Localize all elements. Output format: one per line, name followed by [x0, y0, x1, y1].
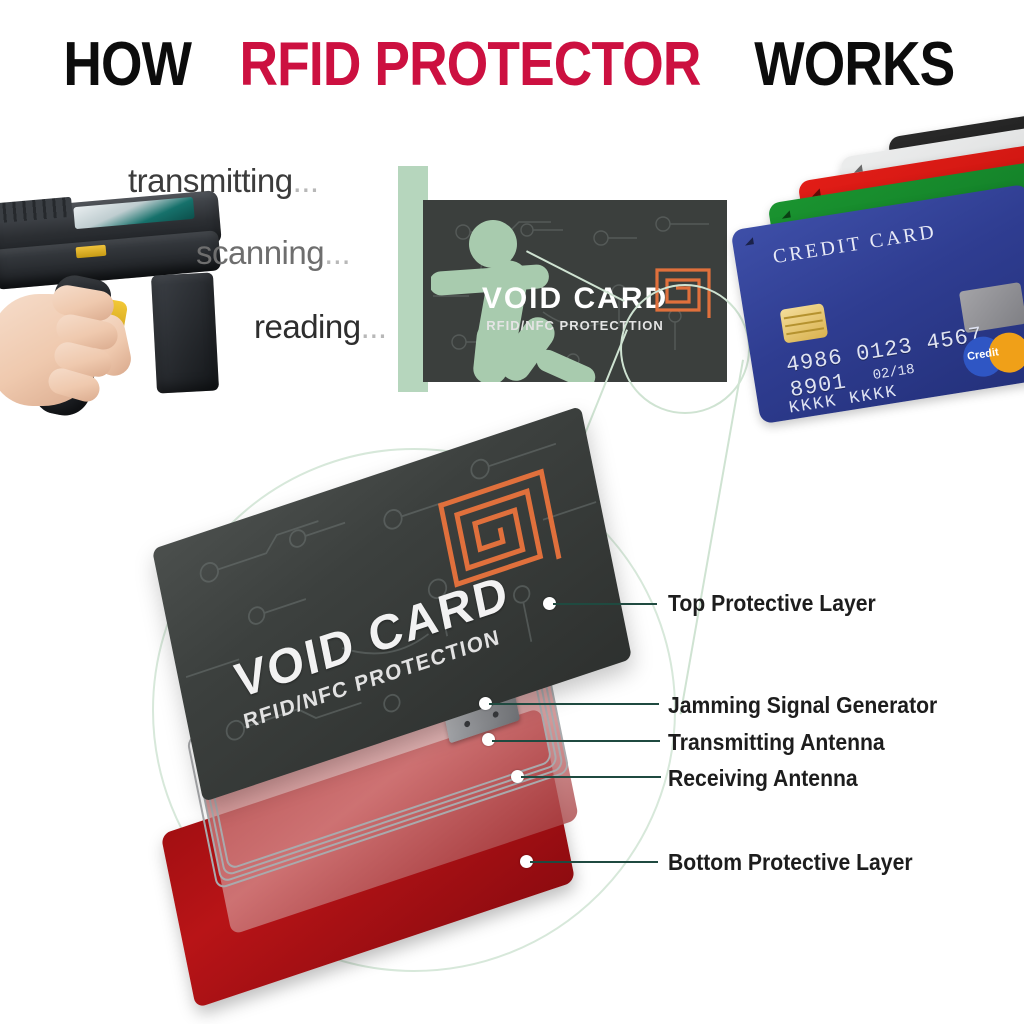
callout-label-top-layer: Top Protective Layer [668, 590, 876, 617]
process-label-text: reading [254, 308, 361, 345]
magnifier-lens [620, 284, 750, 414]
process-label-transmitting: transmitting... [128, 162, 319, 200]
credit-card-stack: CREDIT C C CREDIT CARD 4986 0123 4567 89… [744, 118, 1024, 418]
process-label-text: scanning [196, 234, 324, 271]
rfid-scanner-gun [0, 196, 240, 426]
scanner-antenna-head [151, 272, 219, 393]
callout-label-jamming: Jamming Signal Generator [668, 692, 937, 719]
credit-card-blue-label: CREDIT CARD [771, 221, 938, 270]
callout-line-receiving [521, 776, 661, 778]
page-title: HOW RFID PROTECTOR WORKS [0, 34, 1024, 96]
ellipsis: ... [324, 234, 350, 271]
card-notch-icon [744, 237, 754, 245]
title-highlight: RFID PROTECTOR [239, 34, 700, 96]
callout-line-bottom-layer [530, 861, 658, 863]
callout-label-receiving: Receiving Antenna [668, 765, 858, 792]
title-part-one: HOW [64, 34, 192, 96]
callout-label-transmitting: Transmitting Antenna [668, 729, 885, 756]
callout-line-transmitting [492, 740, 660, 742]
ellipsis: ... [293, 162, 319, 199]
pushing-person-icon [431, 218, 611, 382]
infographic-canvas: HOW RFID PROTECTOR WORKS transmitting...… [0, 0, 1024, 1024]
callout-line-jamming [489, 703, 659, 705]
process-label-reading: reading... [254, 308, 387, 346]
callout-label-bottom-layer: Bottom Protective Layer [668, 849, 913, 876]
process-label-scanning: scanning... [196, 234, 350, 272]
title-part-two: WORKS [754, 34, 954, 96]
card-notch-icon [781, 210, 791, 218]
emv-chip-icon [780, 303, 829, 343]
callout-line-top-layer [553, 603, 657, 605]
process-label-text: transmitting [128, 162, 293, 199]
ellipsis: ... [361, 308, 387, 345]
